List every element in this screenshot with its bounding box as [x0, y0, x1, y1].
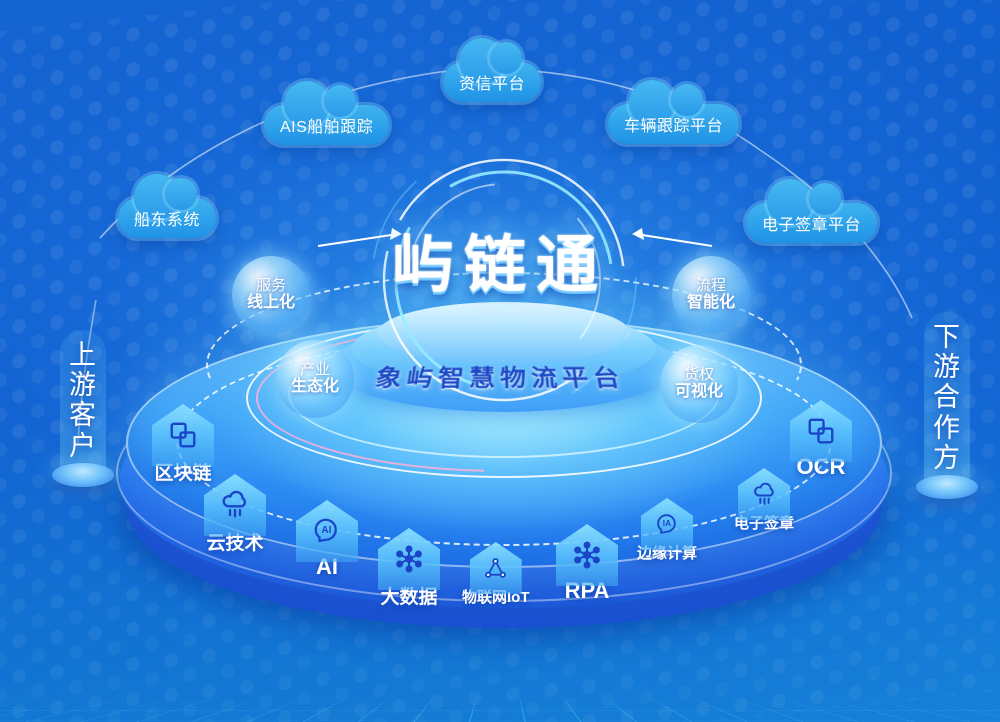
- cloud-node-3[interactable]: 资信平台: [443, 62, 541, 102]
- capability-line-2: 可视化: [675, 383, 723, 401]
- svg-text:IA: IA: [662, 518, 670, 528]
- capability-line-1: 服务: [256, 277, 286, 294]
- technology-item-8[interactable]: 电子签章: [734, 468, 794, 533]
- nodes-icon: [378, 528, 440, 590]
- pillar-char: 合: [924, 382, 970, 412]
- nodes-icon: [556, 524, 618, 586]
- cloud-node-4[interactable]: 车辆跟踪平台: [608, 104, 739, 144]
- capability-bubble-2[interactable]: 产业生态化: [276, 340, 354, 418]
- grid-lines: [0, 695, 1000, 722]
- pillar-label: 上游客户: [60, 330, 106, 469]
- pillar-char: 游: [924, 352, 970, 382]
- cloud-node-2[interactable]: AIS船舶跟踪: [264, 105, 389, 145]
- cloud-node-label: AIS船舶跟踪: [280, 113, 373, 137]
- technology-item-4[interactable]: 大数据: [378, 528, 440, 609]
- pillar-char: 方: [924, 443, 970, 473]
- core-podium-3: [378, 302, 630, 364]
- pillar-char: 户: [60, 431, 106, 461]
- technology-item-5[interactable]: 物联网IoT: [462, 542, 530, 607]
- technology-item-6[interactable]: RPA: [556, 524, 618, 604]
- cloud-tech-icon: [204, 474, 266, 536]
- ia-head-icon: IA: [641, 498, 693, 550]
- page-subtitle: 象屿智慧物流平台: [0, 361, 1000, 394]
- pillar-upstream: 上游客户: [52, 330, 114, 487]
- pillar-base: [52, 463, 114, 487]
- triangle-nodes-icon: [470, 542, 522, 594]
- cloud-tech-icon: [738, 468, 790, 520]
- capability-bubble-1[interactable]: 服务线上化: [232, 256, 310, 334]
- blocks-icon: [790, 400, 852, 462]
- pillar-char: 上: [60, 340, 106, 370]
- capability-line-1: 货权: [684, 366, 714, 383]
- pillar-base: [916, 475, 978, 499]
- capability-line-2: 智能化: [687, 294, 735, 312]
- capability-line-1: 流程: [696, 277, 726, 294]
- cloud-node-label: 资信平台: [459, 70, 525, 94]
- pillar-char: 客: [60, 400, 106, 430]
- capability-bubble-3[interactable]: 流程智能化: [672, 256, 750, 334]
- technology-item-9[interactable]: OCR: [790, 400, 852, 480]
- technology-item-3[interactable]: AIAI: [296, 500, 358, 580]
- svg-text:AI: AI: [321, 525, 331, 536]
- technology-item-7[interactable]: IA边缘计算: [637, 498, 697, 563]
- pillar-char: 下: [924, 322, 970, 352]
- ai-head-icon: AI: [296, 500, 358, 562]
- pillar-char: 作: [924, 413, 970, 443]
- technology-item-1[interactable]: 区块链: [152, 404, 214, 485]
- pillar-char: 游: [60, 370, 106, 400]
- technology-item-2[interactable]: 云技术: [204, 474, 266, 555]
- blocks-icon: [152, 404, 214, 466]
- capability-line-1: 产业: [300, 361, 330, 378]
- capability-bubble-4[interactable]: 货权可视化: [660, 345, 738, 423]
- infographic-canvas: 屿链通 象屿智慧物流平台 船东系统AIS船舶跟踪资信平台车辆跟踪平台电子签章平台…: [0, 0, 1000, 722]
- cloud-node-label: 车辆跟踪平台: [624, 112, 723, 136]
- page-title: 屿链通: [0, 214, 1000, 304]
- capability-line-2: 线上化: [247, 294, 295, 312]
- pillar-label: 下游合作方: [924, 312, 970, 481]
- pillar-downstream: 下游合作方: [916, 312, 978, 499]
- capability-line-2: 生态化: [291, 378, 339, 396]
